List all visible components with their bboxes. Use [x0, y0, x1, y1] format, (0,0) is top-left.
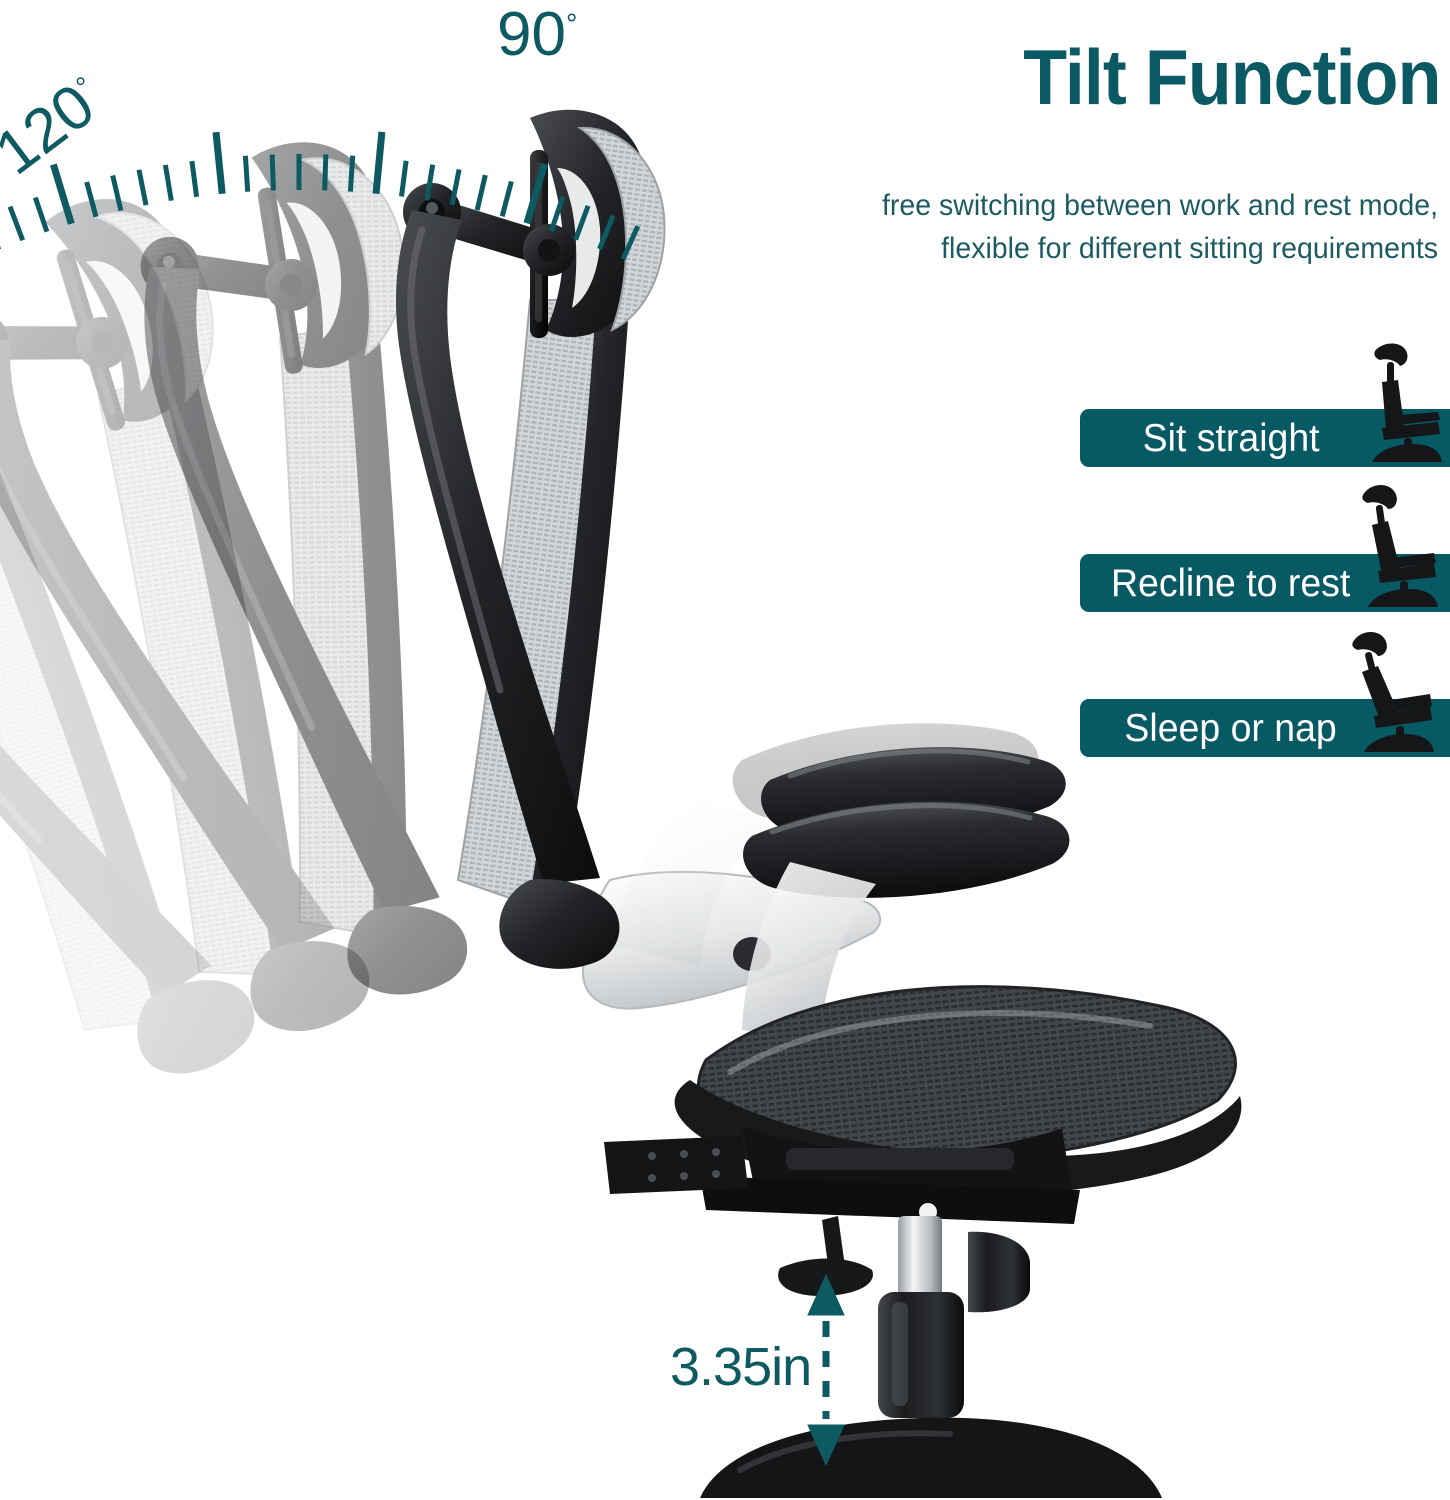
angle-tick-minor [113, 176, 121, 211]
angle-tick-minor [576, 206, 589, 240]
infographic-canvas: 120° 90° Tilt Function free switching be… [0, 0, 1450, 1500]
angle-tick-minor [502, 182, 511, 217]
angle-tick-minor [350, 156, 352, 192]
angle-tick-minor [427, 165, 433, 201]
angle-label-90: 90° [497, 4, 577, 66]
feature-badge-label: Sit straight [1143, 419, 1320, 458]
page-subtitle-line-1: free switching between work and rest mod… [745, 185, 1439, 228]
angle-tick-minor [245, 156, 247, 192]
page-subtitle: free switching between work and rest mod… [745, 185, 1439, 270]
angle-tick-major [527, 164, 545, 223]
angle-tick-minor [402, 161, 407, 197]
angle-tick-major [376, 132, 382, 194]
feature-badge-recline-to-rest[interactable]: Recline to rest [1080, 554, 1450, 612]
angle-tick-major [53, 165, 71, 224]
angle-tick-minor [35, 198, 47, 232]
recline-angle-scale: 120° 90° [0, 0, 640, 300]
gas-cylinder [878, 1216, 1030, 1418]
angle-tick-minor [452, 170, 459, 205]
angle-tick-minor [139, 170, 146, 205]
double-headed-dashed-arrow-icon [800, 1275, 852, 1465]
angle-tick-major [216, 132, 222, 194]
angle-tick-minor [87, 182, 96, 217]
angle-tick-minor [165, 165, 171, 201]
feature-badge-sleep-or-nap[interactable]: Sleep or nap [1080, 699, 1450, 757]
angle-tick-minor [272, 155, 273, 191]
chair-base [700, 1418, 1162, 1498]
angle-tick-minor [600, 216, 614, 249]
angle-tick-minor [623, 226, 638, 259]
feature-badge-label: Recline to rest [1111, 564, 1350, 603]
feature-badge-sit-straight[interactable]: Sit straight [1080, 409, 1450, 467]
angle-tick-minor [10, 207, 23, 241]
feature-badge-label: Sleep or nap [1125, 709, 1337, 748]
page-title: Tilt Function [1023, 38, 1440, 116]
height-adjust-dimension-label: 3.35in [670, 1340, 811, 1394]
seat-bracket [604, 1136, 748, 1194]
angle-tick-minor [192, 161, 197, 197]
page-subtitle-line-2: flexible for different sitting requireme… [745, 228, 1439, 271]
angle-tick-minor [551, 197, 563, 231]
angle-tick-minor [325, 154, 326, 190]
angle-tick-minor [477, 175, 485, 210]
